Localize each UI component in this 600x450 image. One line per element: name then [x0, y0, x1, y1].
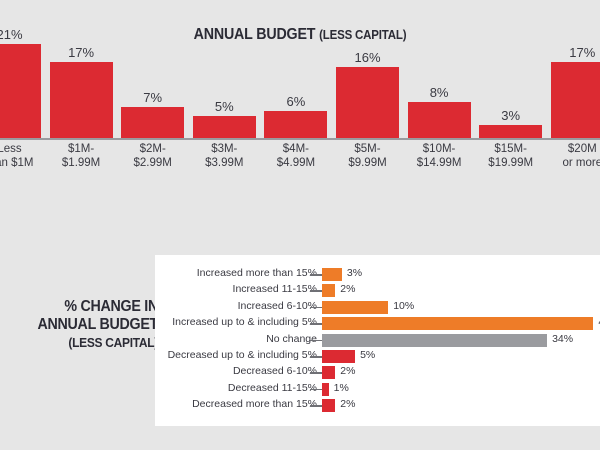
percent-change-bar — [322, 284, 335, 297]
annual-budget-bar-value: 5% — [193, 99, 256, 114]
percent-change-tick — [310, 372, 322, 374]
category-label-line: $15M- — [479, 143, 542, 157]
annual-budget-category-label: $15M-$19.99M — [479, 143, 542, 170]
annual-budget-bar-value: 21% — [0, 27, 41, 42]
percent-change-bar-value: 3% — [347, 267, 362, 279]
annual-budget-bar-value: 7% — [121, 90, 184, 105]
percent-change-tick — [310, 290, 322, 292]
annual-budget-bar-value: 6% — [264, 94, 327, 109]
annual-budget-bar — [193, 116, 256, 138]
percent-change-category-label: Decreased up to & including 5% — [168, 349, 317, 361]
percent-change-bar-value: 10% — [393, 300, 414, 312]
category-label-line: $3M- — [193, 143, 256, 157]
category-label-line: $5M- — [336, 143, 399, 157]
percent-change-tick — [310, 307, 322, 309]
category-label-line: $10M- — [408, 143, 471, 157]
category-label-line: $20M — [551, 143, 600, 157]
annual-budget-bar — [408, 102, 471, 138]
percent-change-row: Decreased more than 15%2% — [155, 399, 600, 412]
annual-budget-axis-line — [0, 138, 600, 140]
annual-budget-plot-area: 21%17%7%5%6%16%8%3%17% — [0, 40, 600, 138]
category-label-line: or more — [551, 157, 600, 171]
annual-budget-category-label: Lessthan $1M — [0, 143, 41, 170]
percent-change-row: Increased up to & including 5%4 — [155, 317, 600, 330]
percent-change-panel: Increased more than 15%3%Increased 11-15… — [155, 255, 600, 426]
bar-column: 5% — [193, 40, 256, 138]
percent-change-plot-area: Increased more than 15%3%Increased 11-15… — [155, 255, 600, 426]
bar-column: 3% — [479, 40, 542, 138]
percent-change-tick — [310, 274, 322, 276]
percent-change-category-label: No change — [266, 333, 317, 345]
annual-budget-category-label: $5M-$9.99M — [336, 143, 399, 170]
annual-budget-bar-value: 17% — [551, 45, 600, 60]
category-label-line: $4M- — [264, 143, 327, 157]
percent-change-bar — [322, 268, 342, 281]
percent-change-bar-value: 5% — [360, 349, 375, 361]
percent-change-bar-value: 2% — [340, 398, 355, 410]
annual-budget-bar — [479, 125, 542, 138]
percent-change-title-line2: ANNUAL BUDGET — [0, 316, 158, 334]
percent-change-title-line1: % CHANGE IN — [0, 298, 158, 316]
category-label-line: Less — [0, 143, 41, 157]
percent-change-row: Increased 6-10%10% — [155, 301, 600, 314]
percent-change-bar — [322, 301, 388, 314]
annual-budget-bar-value: 8% — [408, 85, 471, 100]
annual-budget-category-label: $2M-$2.99M — [121, 143, 184, 170]
annual-budget-bar — [0, 44, 41, 138]
annual-budget-chart: ANNUAL BUDGET (LESS CAPITAL) 21%17%7%5%6… — [0, 0, 600, 200]
annual-budget-category-label: $3M-$3.99M — [193, 143, 256, 170]
percent-change-row: Decreased 11-15%1% — [155, 383, 600, 396]
category-label-line: $14.99M — [408, 157, 471, 171]
annual-budget-category-label: $4M-$4.99M — [264, 143, 327, 170]
percent-change-category-label: Decreased 11-15% — [228, 382, 317, 394]
percent-change-row: Decreased 6-10%2% — [155, 366, 600, 379]
annual-budget-bar — [264, 111, 327, 138]
percent-change-chart-title: % CHANGE IN ANNUAL BUDGET (LESS CAPITAL) — [0, 298, 158, 352]
category-label-line: $3.99M — [193, 157, 256, 171]
category-label-line: $1M- — [50, 143, 113, 157]
category-label-line: $1.99M — [50, 157, 113, 171]
annual-budget-bar-value: 3% — [479, 108, 542, 123]
percent-change-row: Increased 11-15%2% — [155, 284, 600, 297]
percent-change-bar-value: 2% — [340, 365, 355, 377]
percent-change-bar-value: 34% — [552, 333, 573, 345]
category-label-line: $19.99M — [479, 157, 542, 171]
bar-column: 17% — [551, 40, 600, 138]
percent-change-category-label: Increased 6-10% — [238, 300, 317, 312]
percent-change-row: Increased more than 15%3% — [155, 268, 600, 281]
percent-change-bar — [322, 350, 355, 363]
annual-budget-bar — [551, 62, 600, 138]
percent-change-tick — [310, 356, 322, 358]
percent-change-bar-value: 1% — [334, 382, 349, 394]
percent-change-title-line3: (LESS CAPITAL) — [0, 334, 158, 352]
annual-budget-x-axis-labels: Lessthan $1M$1M-$1.99M$2M-$2.99M$3M-$3.9… — [0, 143, 600, 189]
percent-change-tick — [310, 323, 322, 325]
percent-change-tick — [310, 340, 322, 342]
bar-column: 17% — [50, 40, 113, 138]
bar-column: 7% — [121, 40, 184, 138]
annual-budget-category-label: $10M-$14.99M — [408, 143, 471, 170]
bar-column: 21% — [0, 40, 41, 138]
annual-budget-category-label: $20Mor more — [551, 143, 600, 170]
percent-change-category-label: Decreased 6-10% — [233, 365, 317, 377]
category-label-line: $4.99M — [264, 157, 327, 171]
percent-change-category-label: Increased 11-15% — [233, 283, 317, 295]
annual-budget-bar — [121, 107, 184, 138]
percent-change-row: Decreased up to & including 5%5% — [155, 350, 600, 363]
annual-budget-category-label: $1M-$1.99M — [50, 143, 113, 170]
percent-change-tick — [310, 389, 322, 391]
percent-change-bar — [322, 383, 329, 396]
category-label-line: $9.99M — [336, 157, 399, 171]
percent-change-category-label: Decreased more than 15% — [192, 398, 317, 410]
percent-change-row: No change34% — [155, 334, 600, 347]
percent-change-bar — [322, 366, 335, 379]
percent-change-tick — [310, 405, 322, 407]
annual-budget-bar-value: 17% — [50, 45, 113, 60]
percent-change-bar — [322, 399, 335, 412]
percent-change-bar — [322, 334, 547, 347]
category-label-line: than $1M — [0, 157, 41, 171]
percent-change-category-label: Increased up to & including 5% — [172, 316, 317, 328]
percent-change-category-label: Increased more than 15% — [197, 267, 317, 279]
bar-column: 6% — [264, 40, 327, 138]
percent-change-bar — [322, 317, 593, 330]
percent-change-bar-value: 2% — [340, 283, 355, 295]
bar-column: 16% — [336, 40, 399, 138]
category-label-line: $2.99M — [121, 157, 184, 171]
annual-budget-bar — [336, 67, 399, 138]
category-label-line: $2M- — [121, 143, 184, 157]
annual-budget-bar — [50, 62, 113, 138]
bar-column: 8% — [408, 40, 471, 138]
annual-budget-bar-value: 16% — [336, 50, 399, 65]
